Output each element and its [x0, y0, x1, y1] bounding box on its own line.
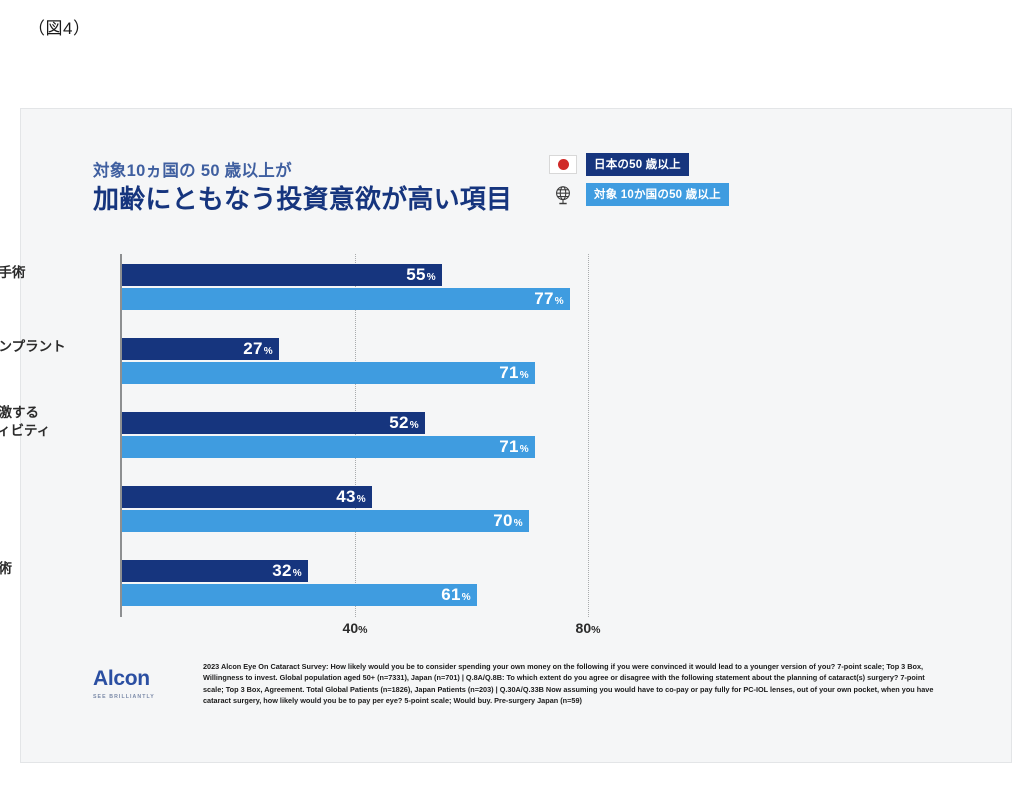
bar-japan-3: 43%: [122, 486, 372, 508]
chart-slide: 対象10ヵ国の 50 歳以上が 加齢にともなう投資意欲が高い項目 日本の50 歳…: [20, 108, 1012, 763]
bar-value-japan-2: 52%: [389, 413, 425, 433]
chart-footer: Alcon SEE BRILLIANTLY 2023 Alcon Eye On …: [93, 661, 953, 706]
logo-tagline: SEE BRILLIANTLY: [93, 694, 181, 700]
bar-global-4: 61%: [122, 584, 477, 606]
bar-global-3: 70%: [122, 510, 529, 532]
bar-value-japan-3: 43%: [336, 487, 372, 507]
source-footnote: 2023 Alcon Eye On Cataract Survey: How l…: [203, 661, 943, 706]
logo-wordmark: Alcon: [93, 667, 181, 691]
bar-global-1: 71%: [122, 362, 535, 384]
x-tick-80: 80%: [576, 620, 601, 636]
bar-value-global-0: 77%: [534, 289, 570, 309]
legend-label-global: 対象 10か国の50 歳以上: [586, 183, 729, 206]
figure-caption: （図4）: [28, 14, 90, 39]
bar-japan-1: 27%: [122, 338, 279, 360]
legend-label-japan: 日本の50 歳以上: [586, 153, 689, 176]
legend-item-global: 対象 10か国の50 歳以上: [549, 183, 729, 206]
chart-legend: 日本の50 歳以上 対象 10か国の50 歳以上: [549, 153, 729, 206]
globe-icon: [549, 184, 577, 206]
gridline-80: [588, 254, 589, 617]
bar-japan-2: 52%: [122, 412, 425, 434]
bar-global-0: 77%: [122, 288, 570, 310]
alcon-logo: Alcon SEE BRILLIANTLY: [93, 661, 181, 706]
bar-value-global-4: 61%: [441, 585, 477, 605]
bar-value-japan-1: 27%: [243, 339, 279, 359]
bar-global-2: 71%: [122, 436, 535, 458]
bar-chart-plot: 白内障手術 55% 77% 歯科インプラント 27% 71% 脳を刺激する アク…: [93, 254, 783, 644]
x-tick-40: 40%: [343, 620, 368, 636]
legend-item-japan: 日本の50 歳以上: [549, 153, 729, 176]
bar-japan-4: 32%: [122, 560, 308, 582]
bar-japan-0: 55%: [122, 264, 442, 286]
bar-value-japan-0: 55%: [406, 265, 442, 285]
bar-value-global-2: 71%: [499, 437, 535, 457]
japan-flag-icon: [549, 154, 577, 176]
bar-value-global-1: 71%: [499, 363, 535, 383]
bar-value-global-3: 70%: [493, 511, 529, 531]
bar-value-japan-4: 32%: [272, 561, 308, 581]
